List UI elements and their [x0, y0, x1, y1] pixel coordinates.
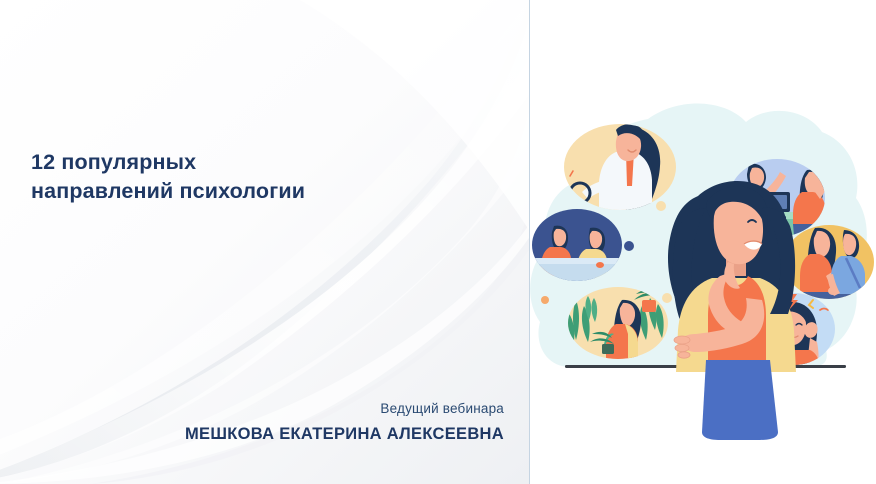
- presenter-name: МЕШКОВА ЕКАТЕРИНА АЛЕКСЕЕВНА: [24, 422, 504, 446]
- presenter-block: Ведущий вебинара МЕШКОВА ЕКАТЕРИНА АЛЕКС…: [24, 399, 504, 446]
- presenter-role-label: Ведущий вебинара: [24, 399, 504, 419]
- title-line-2: направлений психологии: [31, 177, 471, 206]
- illustration-panel: [530, 0, 876, 484]
- bubble-dot-plants: [662, 293, 672, 303]
- central-thinking-woman: [668, 181, 796, 440]
- thinking-woman-illustration: [530, 0, 876, 484]
- title-line-1: 12 популярных: [31, 148, 471, 177]
- bubble-dot-interview: [624, 241, 634, 251]
- page-title: 12 популярных направлений психологии: [31, 148, 471, 206]
- float-dot-orange-left: [541, 296, 549, 304]
- bubble-dot-scientist: [656, 201, 666, 211]
- left-panel: 12 популярных направлений психологии Вед…: [0, 0, 529, 484]
- blue-skirt: [702, 360, 778, 440]
- presentation-slide: 12 популярных направлений психологии Вед…: [0, 0, 876, 484]
